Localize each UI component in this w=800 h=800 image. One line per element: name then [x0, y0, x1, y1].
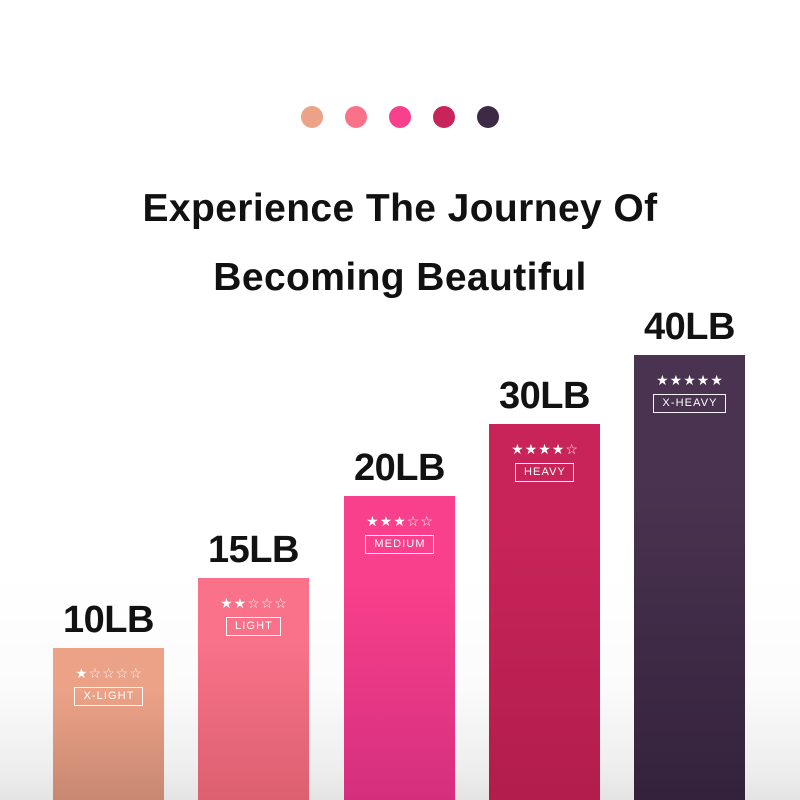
bar-group-medium: 20LB★★★☆☆MEDIUM	[344, 496, 455, 800]
bar-badge: ★★★☆☆MEDIUM	[344, 514, 455, 554]
bar: ★☆☆☆☆X-LIGHT	[53, 648, 164, 800]
bar: ★★★★☆HEAVY	[489, 424, 600, 800]
star-filled-icon: ★	[552, 442, 565, 456]
star-rating: ★★★☆☆	[366, 514, 433, 528]
bar-value-label: 10LB	[63, 599, 154, 642]
star-empty-icon: ☆	[247, 596, 260, 610]
star-filled-icon: ★	[234, 596, 247, 610]
star-rating: ★★☆☆☆	[220, 596, 287, 610]
bar-fill	[634, 355, 745, 800]
star-rating: ★★★★☆	[511, 442, 578, 456]
star-filled-icon: ★	[656, 373, 669, 387]
bar-value-label: 15LB	[208, 529, 299, 572]
star-filled-icon: ★	[697, 373, 710, 387]
star-empty-icon: ☆	[116, 666, 129, 680]
star-filled-icon: ★	[380, 514, 393, 528]
resistance-bar-chart: 10LB★☆☆☆☆X-LIGHT15LB★★☆☆☆LIGHT20LB★★★☆☆M…	[0, 0, 800, 800]
bar: ★★★☆☆MEDIUM	[344, 496, 455, 800]
resistance-band-infographic: Experience The Journey Of Becoming Beaut…	[0, 0, 800, 800]
grade-badge: X-HEAVY	[653, 394, 725, 413]
bar-group-x-light: 10LB★☆☆☆☆X-LIGHT	[53, 648, 164, 800]
star-empty-icon: ☆	[407, 514, 420, 528]
star-empty-icon: ☆	[261, 596, 274, 610]
star-filled-icon: ★	[525, 442, 538, 456]
bar-group-light: 15LB★★☆☆☆LIGHT	[198, 578, 309, 800]
bar-badge: ★★☆☆☆LIGHT	[198, 596, 309, 636]
star-empty-icon: ☆	[102, 666, 115, 680]
star-filled-icon: ★	[511, 442, 524, 456]
grade-badge: HEAVY	[515, 463, 574, 482]
grade-badge: LIGHT	[226, 617, 281, 636]
star-empty-icon: ☆	[420, 514, 433, 528]
bar-badge: ★★★★☆HEAVY	[489, 442, 600, 482]
grade-badge: MEDIUM	[365, 535, 433, 554]
star-filled-icon: ★	[220, 596, 233, 610]
star-empty-icon: ☆	[274, 596, 287, 610]
bar-value-label: 40LB	[644, 306, 735, 349]
star-filled-icon: ★	[683, 373, 696, 387]
star-filled-icon: ★	[393, 514, 406, 528]
bar: ★★★★★X-HEAVY	[634, 355, 745, 800]
star-empty-icon: ☆	[129, 666, 142, 680]
star-filled-icon: ★	[538, 442, 551, 456]
bar-value-label: 20LB	[354, 447, 445, 490]
bar: ★★☆☆☆LIGHT	[198, 578, 309, 800]
bar-badge: ★★★★★X-HEAVY	[634, 373, 745, 413]
grade-badge: X-LIGHT	[74, 687, 142, 706]
star-rating: ★★★★★	[656, 373, 723, 387]
bar-group-heavy: 30LB★★★★☆HEAVY	[489, 424, 600, 800]
star-filled-icon: ★	[670, 373, 683, 387]
bar-badge: ★☆☆☆☆X-LIGHT	[53, 666, 164, 706]
star-filled-icon: ★	[366, 514, 379, 528]
bar-group-x-heavy: 40LB★★★★★X-HEAVY	[634, 355, 745, 800]
star-rating: ★☆☆☆☆	[75, 666, 142, 680]
bar-value-label: 30LB	[499, 375, 590, 418]
star-empty-icon: ☆	[565, 442, 578, 456]
star-filled-icon: ★	[710, 373, 723, 387]
star-filled-icon: ★	[75, 666, 88, 680]
star-empty-icon: ☆	[89, 666, 102, 680]
